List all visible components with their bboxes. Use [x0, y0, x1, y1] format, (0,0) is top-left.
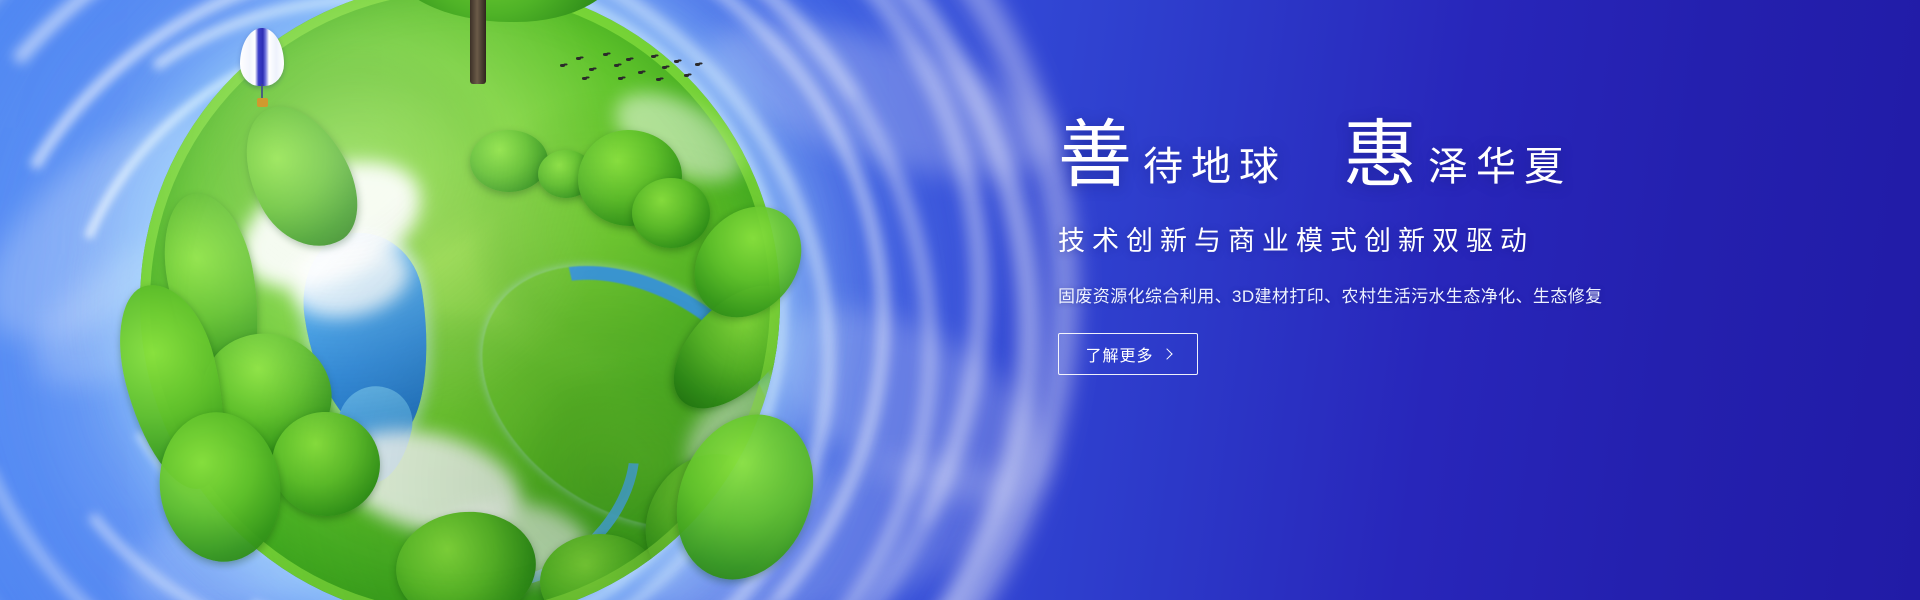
balloon-basket — [257, 98, 268, 107]
tree — [538, 150, 594, 198]
headline-part2-small: 泽华夏 — [1428, 147, 1572, 192]
tree — [578, 130, 682, 226]
subtitle: 技术创新与商业模式创新双驱动 — [1058, 219, 1838, 258]
bird-flock-icon — [556, 44, 706, 88]
lake — [294, 225, 442, 450]
tree — [470, 130, 548, 192]
globe-cloud — [284, 232, 416, 327]
globe-cloud — [222, 136, 440, 314]
hot-air-balloon-icon — [240, 28, 284, 114]
learn-more-button[interactable]: 了解更多 — [1058, 333, 1198, 375]
tree — [222, 88, 377, 266]
learn-more-label: 了解更多 — [1085, 342, 1153, 366]
globe-cloud — [327, 413, 531, 551]
lake-lower — [327, 379, 419, 488]
globe-illustration — [140, 0, 800, 600]
headline: 善 待地球 惠 泽华夏 — [1058, 118, 1838, 192]
headline-part1-small: 待地球 — [1143, 147, 1287, 192]
tree — [265, 405, 386, 523]
tall-tree-trunk — [470, 0, 486, 84]
globe-cloud — [436, 494, 594, 589]
tree — [632, 178, 710, 248]
headline-part1-large: 善 — [1058, 118, 1133, 192]
balloon-envelope — [240, 28, 284, 86]
tree — [391, 505, 542, 600]
tree — [540, 534, 660, 600]
river-branch — [371, 325, 684, 600]
globe-cloud — [602, 75, 759, 199]
description: 固废资源化综合利用、3D建材打印、农村生活污水生态净化、生态修复 — [1058, 282, 1838, 307]
banner-copy: 善 待地球 惠 泽华夏 技术创新与商业模式创新双驱动 固废资源化综合利用、3D建… — [1058, 118, 1838, 375]
chevron-right-icon — [1161, 348, 1172, 359]
headline-part2-large: 惠 — [1343, 118, 1418, 192]
hero-banner: 善 待地球 惠 泽华夏 技术创新与商业模式创新双驱动 固废资源化综合利用、3D建… — [0, 0, 1920, 600]
